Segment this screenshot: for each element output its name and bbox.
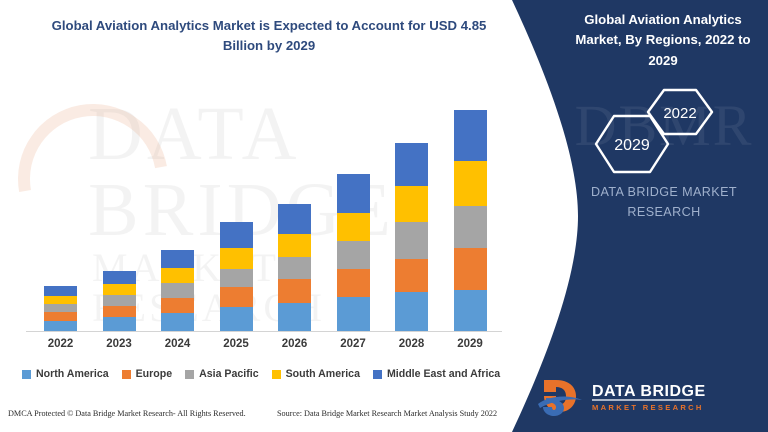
chart-bar-2026 bbox=[278, 204, 311, 331]
legend-item-europe[interactable]: Europe bbox=[122, 368, 173, 380]
chart-bar-2028 bbox=[395, 143, 428, 331]
bar-segment-asia-pacific bbox=[220, 269, 253, 287]
infographic-canvas: DATA BRIDGE MARKET RESEARCH Global Aviat… bbox=[0, 0, 768, 432]
x-axis-label-2024: 2024 bbox=[150, 338, 206, 350]
data-bridge-logo: DATA BRIDGE MARKET RESEARCH bbox=[534, 374, 744, 418]
chart-bar-2027 bbox=[337, 174, 370, 331]
bar-segment-north-america bbox=[220, 307, 253, 331]
bar-segment-asia-pacific bbox=[337, 241, 370, 269]
bar-segment-north-america bbox=[395, 292, 428, 331]
bar-segment-middle-east-and-africa bbox=[395, 143, 428, 186]
bar-segment-europe bbox=[220, 287, 253, 307]
bar-segment-asia-pacific bbox=[103, 295, 136, 306]
legend-item-north-america[interactable]: North America bbox=[22, 368, 109, 380]
logo-mark-icon bbox=[538, 380, 582, 416]
bar-segment-north-america bbox=[454, 290, 487, 331]
hexagon-2022-label: 2022 bbox=[663, 105, 696, 122]
bar-segment-south-america bbox=[278, 234, 311, 257]
bar-segment-europe bbox=[103, 306, 136, 317]
bar-segment-middle-east-and-africa bbox=[161, 250, 194, 268]
bar-segment-middle-east-and-africa bbox=[454, 110, 487, 161]
bar-segment-middle-east-and-africa bbox=[220, 222, 253, 248]
x-axis-label-2022: 2022 bbox=[33, 338, 89, 350]
bar-segment-south-america bbox=[44, 296, 77, 304]
bar-segment-middle-east-and-africa bbox=[103, 271, 136, 284]
bar-segment-europe bbox=[44, 312, 77, 321]
bar-segment-middle-east-and-africa bbox=[278, 204, 311, 234]
legend-label: Middle East and Africa bbox=[387, 368, 500, 380]
legend-swatch-icon bbox=[22, 370, 31, 379]
logo-tagline-text: MARKET RESEARCH bbox=[592, 403, 704, 412]
hexagon-2029-label: 2029 bbox=[614, 137, 650, 154]
x-axis-label-2026: 2026 bbox=[267, 338, 323, 350]
bar-segment-north-america bbox=[161, 313, 194, 331]
chart-bar-2023 bbox=[103, 271, 136, 331]
legend-swatch-icon bbox=[185, 370, 194, 379]
bar-segment-north-america bbox=[103, 317, 136, 331]
bar-segment-north-america bbox=[44, 321, 77, 331]
chart-x-axis-labels: 20222023202420252026202720282029 bbox=[0, 338, 520, 358]
bar-segment-south-america bbox=[161, 268, 194, 283]
legend-item-middle-east-and-africa[interactable]: Middle East and Africa bbox=[373, 368, 500, 380]
bar-segment-middle-east-and-africa bbox=[44, 286, 77, 296]
x-axis-label-2029: 2029 bbox=[442, 338, 498, 350]
bar-segment-north-america bbox=[278, 303, 311, 331]
bar-segment-asia-pacific bbox=[44, 304, 77, 312]
legend-label: Europe bbox=[136, 368, 173, 380]
footer-dmca-notice: DMCA Protected © Data Bridge Market Rese… bbox=[8, 409, 246, 418]
bar-segment-europe bbox=[395, 259, 428, 292]
bar-segment-asia-pacific bbox=[454, 206, 487, 248]
legend-label: North America bbox=[36, 368, 109, 380]
bar-segment-europe bbox=[161, 298, 194, 313]
bar-segment-north-america bbox=[337, 297, 370, 331]
legend-item-asia-pacific[interactable]: Asia Pacific bbox=[185, 368, 258, 380]
logo-name-text: DATA BRIDGE bbox=[592, 383, 706, 400]
bar-segment-europe bbox=[278, 279, 311, 303]
x-axis-label-2023: 2023 bbox=[91, 338, 147, 350]
chart-legend: North AmericaEuropeAsia PacificSouth Ame… bbox=[22, 368, 518, 380]
bar-segment-asia-pacific bbox=[395, 222, 428, 259]
panel-title: Global Aviation Analytics Market, By Reg… bbox=[566, 10, 760, 71]
legend-label: South America bbox=[286, 368, 360, 380]
bar-segment-south-america bbox=[337, 213, 370, 241]
bar-segment-asia-pacific bbox=[161, 283, 194, 298]
x-axis-label-2025: 2025 bbox=[208, 338, 264, 350]
bar-segment-europe bbox=[337, 269, 370, 297]
legend-item-south-america[interactable]: South America bbox=[272, 368, 360, 380]
chart-bar-2025 bbox=[220, 222, 253, 331]
panel-brand-text: DATA BRIDGE MARKET RESEARCH bbox=[566, 182, 762, 222]
footer-source-note: Source: Data Bridge Market Research Mark… bbox=[277, 409, 497, 418]
chart-bar-2024 bbox=[161, 250, 194, 331]
legend-swatch-icon bbox=[373, 370, 382, 379]
legend-label: Asia Pacific bbox=[199, 368, 258, 380]
panel-brand-line-1: DATA BRIDGE MARKET bbox=[566, 182, 762, 202]
bar-segment-middle-east-and-africa bbox=[337, 174, 370, 213]
stacked-bar-chart: 20222023202420252026202720282029 bbox=[0, 0, 520, 345]
bar-segment-south-america bbox=[454, 161, 487, 207]
chart-axis-line bbox=[26, 331, 502, 332]
legend-swatch-icon bbox=[122, 370, 131, 379]
bar-segment-south-america bbox=[220, 248, 253, 269]
bar-segment-south-america bbox=[103, 284, 136, 295]
chart-plot-area bbox=[0, 0, 520, 331]
legend-swatch-icon bbox=[272, 370, 281, 379]
panel-brand-line-2: RESEARCH bbox=[566, 202, 762, 222]
chart-bar-2029 bbox=[454, 110, 487, 331]
x-axis-label-2028: 2028 bbox=[384, 338, 440, 350]
bar-segment-europe bbox=[454, 248, 487, 290]
bar-segment-south-america bbox=[395, 186, 428, 222]
bar-segment-asia-pacific bbox=[278, 257, 311, 279]
chart-bar-2022 bbox=[44, 286, 77, 331]
x-axis-label-2027: 2027 bbox=[325, 338, 381, 350]
hexagon-badges: 2022 2029 bbox=[586, 86, 718, 178]
